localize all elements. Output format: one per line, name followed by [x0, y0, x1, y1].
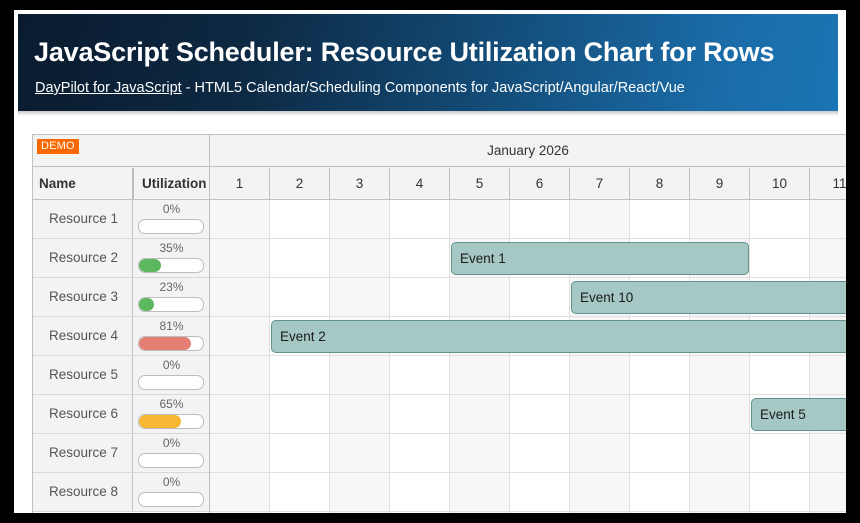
- resource-row[interactable]: Resource 80%: [33, 473, 209, 512]
- utilization-cell: 0%: [132, 200, 209, 238]
- timeline-day-4[interactable]: 4: [390, 168, 450, 200]
- resource-row[interactable]: Resource 323%: [33, 278, 209, 317]
- resource-name: Resource 2: [33, 239, 125, 277]
- timeline-day-11[interactable]: 11: [810, 168, 846, 200]
- utilization-percent-label: 0%: [133, 202, 210, 216]
- scheduler-event[interactable]: Event 1: [451, 242, 749, 275]
- resource-row[interactable]: Resource 70%: [33, 434, 209, 473]
- utilization-cell: 81%: [132, 317, 209, 355]
- utilization-bar-fill: [139, 337, 191, 350]
- timeline-day-8[interactable]: 8: [630, 168, 690, 200]
- banner-subtitle: DayPilot for JavaScript - HTML5 Calendar…: [35, 80, 685, 96]
- banner-subtitle-rest: - HTML5 Calendar/Scheduling Components f…: [182, 80, 685, 96]
- page-banner: JavaScript Scheduler: Resource Utilizati…: [18, 14, 838, 111]
- utilization-percent-label: 65%: [133, 397, 210, 411]
- utilization-cell: 0%: [132, 434, 209, 472]
- scheduler: DEMO Name Utilization January 2026 12345…: [32, 134, 846, 513]
- utilization-bar-track: [138, 453, 204, 468]
- banner-shadow: [18, 111, 838, 116]
- utilization-percent-label: 81%: [133, 319, 210, 333]
- utilization-bar-track: [138, 336, 204, 351]
- timeline-day-row: 1234567891011: [210, 168, 846, 200]
- resource-name: Resource 3: [33, 278, 125, 316]
- window-frame: JavaScript Scheduler: Resource Utilizati…: [0, 0, 860, 523]
- resource-name: Resource 1: [33, 200, 125, 238]
- timeline-day-10[interactable]: 10: [750, 168, 810, 200]
- grid-row-divider: [210, 355, 846, 356]
- column-header-utilization[interactable]: Utilization: [133, 168, 209, 200]
- scheduler-event[interactable]: Event 10: [571, 281, 846, 314]
- utilization-bar-track: [138, 492, 204, 507]
- utilization-cell: 23%: [132, 278, 209, 316]
- utilization-bar-fill: [139, 415, 181, 428]
- utilization-percent-label: 0%: [133, 436, 210, 450]
- grid-row-divider: [210, 238, 846, 239]
- resource-row[interactable]: Resource 10%: [33, 200, 209, 239]
- utilization-percent-label: 23%: [133, 280, 210, 294]
- grid-row-divider: [210, 394, 846, 395]
- utilization-percent-label: 35%: [133, 241, 210, 255]
- grid-row-divider: [210, 511, 846, 512]
- page-title: JavaScript Scheduler: Resource Utilizati…: [34, 37, 774, 68]
- resource-name: Resource 6: [33, 395, 125, 433]
- demo-cell: DEMO: [33, 135, 209, 167]
- utilization-cell: 35%: [132, 239, 209, 277]
- timeline-day-7[interactable]: 7: [570, 168, 630, 200]
- utilization-percent-label: 0%: [133, 475, 210, 489]
- resource-rows: Resource 10%Resource 235%Resource 323%Re…: [32, 200, 210, 513]
- grid-column[interactable]: [270, 200, 330, 513]
- timeline-day-2[interactable]: 2: [270, 168, 330, 200]
- grid-row-divider: [210, 433, 846, 434]
- utilization-cell: 65%: [132, 395, 209, 433]
- resource-name: Resource 8: [33, 473, 125, 511]
- timeline-header: January 2026 1234567891011: [210, 134, 846, 200]
- resource-row[interactable]: Resource 50%: [33, 356, 209, 395]
- timeline-day-5[interactable]: 5: [450, 168, 510, 200]
- grid-row-divider: [210, 316, 846, 317]
- grid-row-divider: [210, 277, 846, 278]
- utilization-bar-track: [138, 219, 204, 234]
- grid-row-divider: [210, 472, 846, 473]
- resource-name: Resource 5: [33, 356, 125, 394]
- resource-row[interactable]: Resource 665%: [33, 395, 209, 434]
- scheduler-event[interactable]: Event 5: [751, 398, 846, 431]
- page-body: JavaScript Scheduler: Resource Utilizati…: [14, 10, 846, 513]
- timeline-day-6[interactable]: 6: [510, 168, 570, 200]
- daypilot-link[interactable]: DayPilot for JavaScript: [35, 80, 182, 96]
- grid-column[interactable]: [390, 200, 450, 513]
- utilization-percent-label: 0%: [133, 358, 210, 372]
- grid-column[interactable]: [750, 200, 810, 513]
- timeline-day-1[interactable]: 1: [210, 168, 270, 200]
- grid-column[interactable]: [810, 200, 846, 513]
- utilization-bar-track: [138, 297, 204, 312]
- utilization-bar-fill: [139, 298, 154, 311]
- utilization-cell: 0%: [132, 356, 209, 394]
- utilization-bar-fill: [139, 259, 161, 272]
- demo-badge: DEMO: [37, 139, 79, 154]
- scheduler-event[interactable]: Event 2: [271, 320, 846, 353]
- timeline-day-9[interactable]: 9: [690, 168, 750, 200]
- utilization-bar-track: [138, 414, 204, 429]
- timeline-month-label: January 2026: [210, 135, 846, 167]
- grid-column[interactable]: [210, 200, 270, 513]
- resource-row[interactable]: Resource 481%: [33, 317, 209, 356]
- resource-name: Resource 4: [33, 317, 125, 355]
- scheduler-corner: DEMO Name Utilization: [32, 134, 210, 200]
- utilization-bar-track: [138, 375, 204, 390]
- scheduler-grid[interactable]: Event 1Event 10Event 2Event 5: [210, 200, 846, 513]
- resource-row[interactable]: Resource 235%: [33, 239, 209, 278]
- resource-name: Resource 7: [33, 434, 125, 472]
- timeline-day-3[interactable]: 3: [330, 168, 390, 200]
- utilization-bar-track: [138, 258, 204, 273]
- column-header-name[interactable]: Name: [39, 168, 131, 200]
- utilization-cell: 0%: [132, 473, 209, 511]
- grid-column[interactable]: [330, 200, 390, 513]
